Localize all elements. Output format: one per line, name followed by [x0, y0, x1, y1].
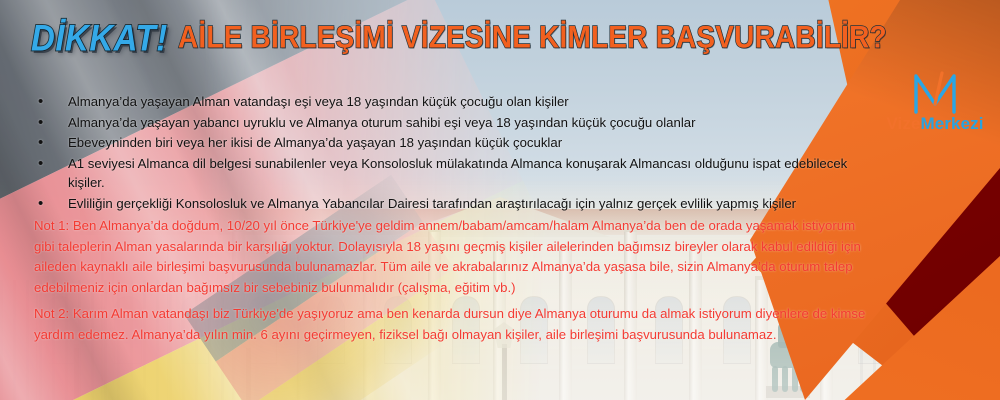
visa-info-banner: VizeMerkezi DİKKAT! AİLE BİRLEŞİMİ VİZES…: [0, 0, 1000, 400]
vizemerkezi-logo[interactable]: VizeMerkezi: [876, 70, 994, 132]
bullet-marker: •: [38, 92, 43, 112]
list-item-text: Evliliğin gerçekliği Konsolosluk ve Alma…: [68, 196, 796, 211]
list-item: • A1 seviyesi Almanca dil belgesi sunabi…: [34, 154, 864, 193]
list-item: • Ebeveyninden biri veya her ikisi de Al…: [34, 133, 864, 153]
headline-question: AİLE BİRLEŞİMİ VİZESİNE KİMLER BAŞVURABİ…: [178, 19, 887, 55]
headline: DİKKAT! AİLE BİRLEŞİMİ VİZESİNE KİMLER B…: [0, 17, 860, 61]
list-item-text: A1 seviyesi Almanca dil belgesi sunabile…: [68, 156, 847, 191]
bullet-marker: •: [38, 113, 43, 133]
list-item-text: Almanya’da yaşayan Alman vatandaşı eşi v…: [68, 94, 569, 109]
list-item: • Evliliğin gerçekliği Konsolosluk ve Al…: [34, 194, 864, 214]
list-item: • Almanya’da yaşayan yabancı uyruklu ve …: [34, 113, 864, 133]
bullet-marker: •: [38, 133, 43, 153]
m-letter-logo-icon: [911, 70, 959, 114]
list-item-text: Ebeveyninden biri veya her ikisi de Alma…: [68, 135, 562, 150]
logo-word-merkezi: Merkezi: [921, 114, 984, 133]
eligibility-bullet-list: • Almanya’da yaşayan Alman vatandaşı eşi…: [34, 92, 864, 215]
note-1: Not 1: Ben Almanya’da doğdum, 10/20 yıl …: [34, 216, 874, 298]
bullet-marker: •: [38, 154, 43, 174]
logo-word-vize: Vize: [886, 114, 920, 133]
list-item: • Almanya’da yaşayan Alman vatandaşı eşi…: [34, 92, 864, 112]
headline-attention: DİKKAT!: [31, 17, 168, 60]
bullet-marker: •: [38, 194, 43, 214]
note-2: Not 2: Karım Alman vatandaşı biz Türkiye…: [34, 304, 874, 345]
logo-wordmark: VizeMerkezi: [876, 115, 994, 132]
list-item-text: Almanya’da yaşayan yabancı uyruklu ve Al…: [68, 115, 696, 130]
